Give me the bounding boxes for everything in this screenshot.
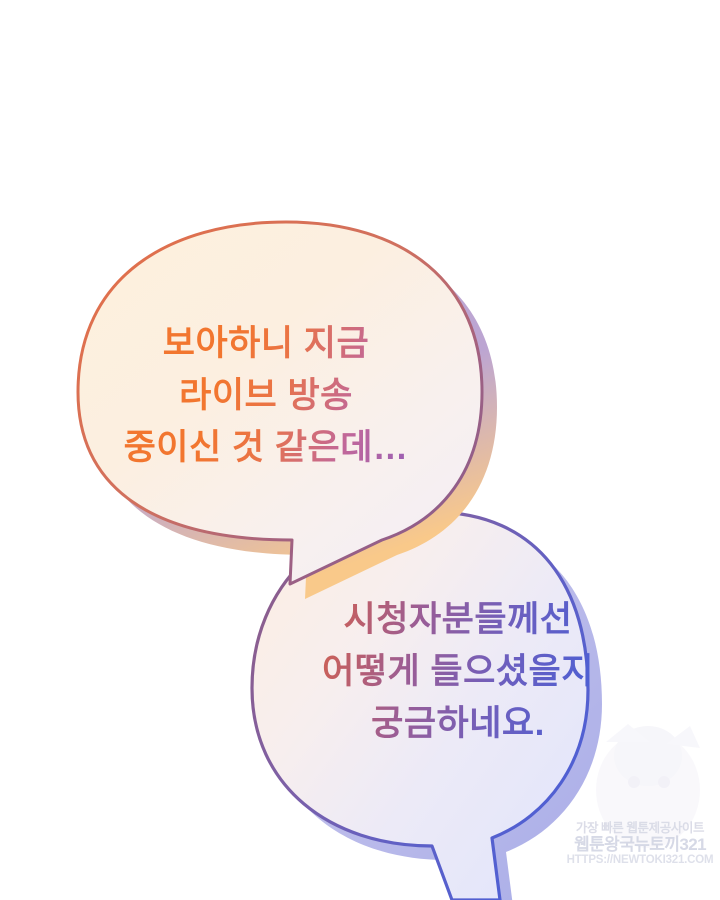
- background-character-silhouette: [596, 724, 700, 848]
- panel-artwork: [0, 0, 720, 900]
- webtoon-panel: 보아하니 지금 라이브 방송 중이신 것 같은데… 시청자분들께선 어떻게 들으…: [0, 0, 720, 900]
